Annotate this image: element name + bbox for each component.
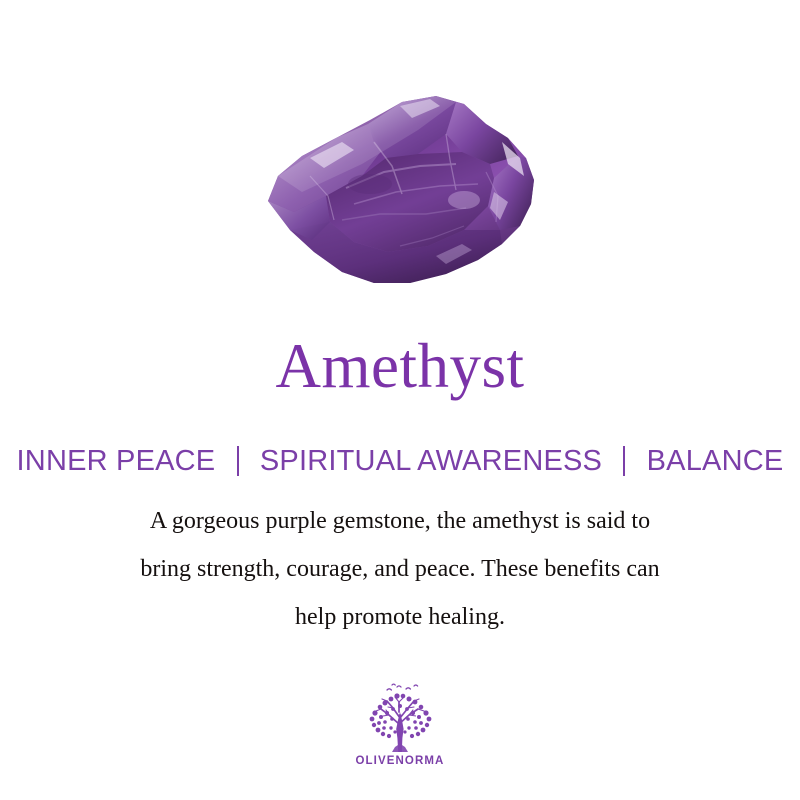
description-line: bring strength, courage, and peace. Thes…: [40, 545, 760, 593]
description-line: A gorgeous purple gemstone, the amethyst…: [40, 497, 760, 545]
keyword-spiritual-awareness: SPIRITUAL AWARENESS: [260, 445, 602, 477]
keyword-balance: BALANCE: [647, 445, 784, 477]
product-description: A gorgeous purple gemstone, the amethyst…: [40, 497, 760, 641]
product-title: Amethyst: [0, 330, 800, 402]
tree-logo-icon: [359, 682, 441, 752]
keyword-inner-peace: INNER PEACE: [17, 445, 216, 477]
keyword-separator-icon: [623, 446, 625, 476]
brand-name: OLIVENORMA: [356, 755, 445, 767]
birds-icon: [387, 684, 418, 690]
amethyst-crystal-illustration: [250, 80, 550, 295]
description-line: help promote healing.: [40, 593, 760, 641]
product-card: Amethyst INNER PEACE SPIRITUAL AWARENESS…: [0, 0, 800, 800]
gemstone-image: [0, 72, 800, 302]
brand-logo: OLIVENORMA: [0, 682, 800, 767]
keyword-strip: INNER PEACE SPIRITUAL AWARENESS BALANCE: [0, 442, 800, 480]
keyword-separator-icon: [237, 446, 239, 476]
